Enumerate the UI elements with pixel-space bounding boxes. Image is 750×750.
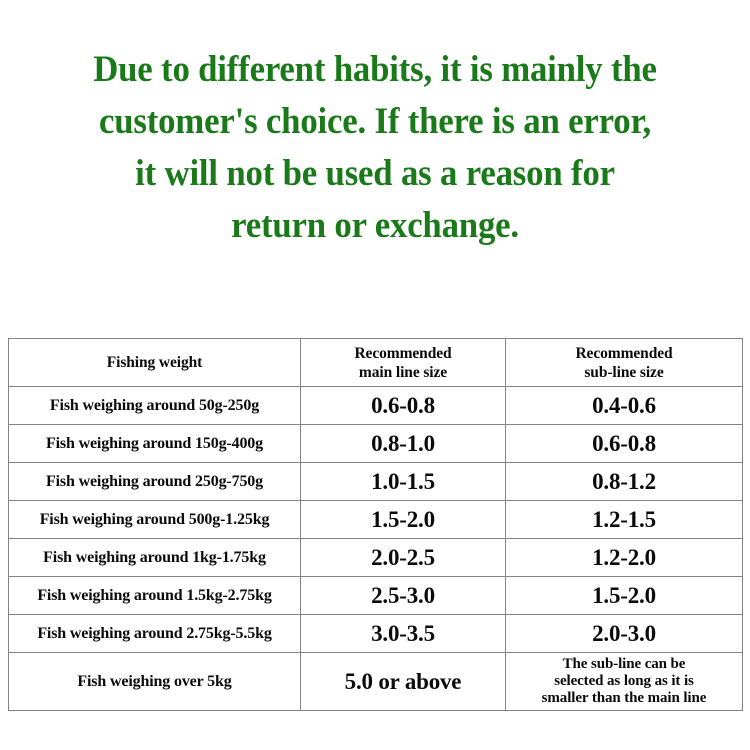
cell-sub-line-size: 2.0-3.0 [506, 615, 743, 653]
cell-fishing-weight: Fish weighing around 500g-1.25kg [9, 501, 301, 539]
table-header: Fishing weight Recommended main line siz… [9, 339, 743, 387]
cell-fishing-weight: Fish weighing around 150g-400g [9, 425, 301, 463]
column-header-main-line-size-line-1: Recommended [305, 344, 501, 363]
heading-line-2: customer's choice. If there is an error, [23, 96, 728, 148]
table-row: Fish weighing around 150g-400g 0.8-1.0 0… [9, 425, 743, 463]
column-header-sub-line-size-line-2: sub-line size [510, 363, 738, 382]
column-header-fishing-weight-line-1: Fishing weight [13, 353, 296, 372]
cell-main-line-size: 1.5-2.0 [301, 501, 506, 539]
cell-main-line-size: 0.8-1.0 [301, 425, 506, 463]
line-size-table: Fishing weight Recommended main line siz… [8, 338, 743, 711]
table-row: Fish weighing around 2.75kg-5.5kg 3.0-3.… [9, 615, 743, 653]
cell-fishing-weight: Fish weighing over 5kg [9, 653, 301, 711]
cell-sub-line-size: 1.2-2.0 [506, 539, 743, 577]
cell-sub-line-note: The sub-line can be selected as long as … [506, 653, 743, 711]
column-header-sub-line-size: Recommended sub-line size [506, 339, 743, 387]
table-row: Fish weighing around 500g-1.25kg 1.5-2.0… [9, 501, 743, 539]
table-row: Fish weighing around 250g-750g 1.0-1.5 0… [9, 463, 743, 501]
cell-sub-line-size: 0.4-0.6 [506, 387, 743, 425]
heading-line-3: it will not be used as a reason for [23, 148, 728, 200]
cell-main-line-size: 5.0 or above [301, 653, 506, 711]
cell-main-line-size: 1.0-1.5 [301, 463, 506, 501]
cell-sub-line-note-line-2: selected as long as it is [510, 673, 738, 690]
cell-fishing-weight: Fish weighing around 250g-750g [9, 463, 301, 501]
heading-line-4: return or exchange. [23, 200, 728, 252]
cell-main-line-size: 0.6-0.8 [301, 387, 506, 425]
table-row: Fish weighing around 1.5kg-2.75kg 2.5-3.… [9, 577, 743, 615]
cell-fishing-weight: Fish weighing around 1kg-1.75kg [9, 539, 301, 577]
cell-sub-line-note-line-1: The sub-line can be [510, 656, 738, 673]
cell-sub-line-note-line-3: smaller than the main line [510, 690, 738, 707]
heading-line-1: Due to different habits, it is mainly th… [23, 44, 728, 96]
column-header-main-line-size: Recommended main line size [301, 339, 506, 387]
disclaimer-heading: Due to different habits, it is mainly th… [23, 44, 728, 252]
cell-sub-line-size: 1.5-2.0 [506, 577, 743, 615]
column-header-fishing-weight: Fishing weight [9, 339, 301, 387]
cell-main-line-size: 3.0-3.5 [301, 615, 506, 653]
cell-sub-line-size: 0.6-0.8 [506, 425, 743, 463]
column-header-sub-line-size-line-1: Recommended [510, 344, 738, 363]
cell-sub-line-size: 1.2-1.5 [506, 501, 743, 539]
page-root: Due to different habits, it is mainly th… [0, 0, 750, 750]
cell-main-line-size: 2.5-3.0 [301, 577, 506, 615]
table-header-row: Fishing weight Recommended main line siz… [9, 339, 743, 387]
cell-fishing-weight: Fish weighing around 1.5kg-2.75kg [9, 577, 301, 615]
cell-main-line-size: 2.0-2.5 [301, 539, 506, 577]
cell-fishing-weight: Fish weighing around 2.75kg-5.5kg [9, 615, 301, 653]
table-row: Fish weighing around 1kg-1.75kg 2.0-2.5 … [9, 539, 743, 577]
table-row: Fish weighing around 50g-250g 0.6-0.8 0.… [9, 387, 743, 425]
table-row: Fish weighing over 5kg 5.0 or above The … [9, 653, 743, 711]
cell-fishing-weight: Fish weighing around 50g-250g [9, 387, 301, 425]
column-header-main-line-size-line-2: main line size [305, 363, 501, 382]
table-body: Fish weighing around 50g-250g 0.6-0.8 0.… [9, 387, 743, 711]
cell-sub-line-size: 0.8-1.2 [506, 463, 743, 501]
